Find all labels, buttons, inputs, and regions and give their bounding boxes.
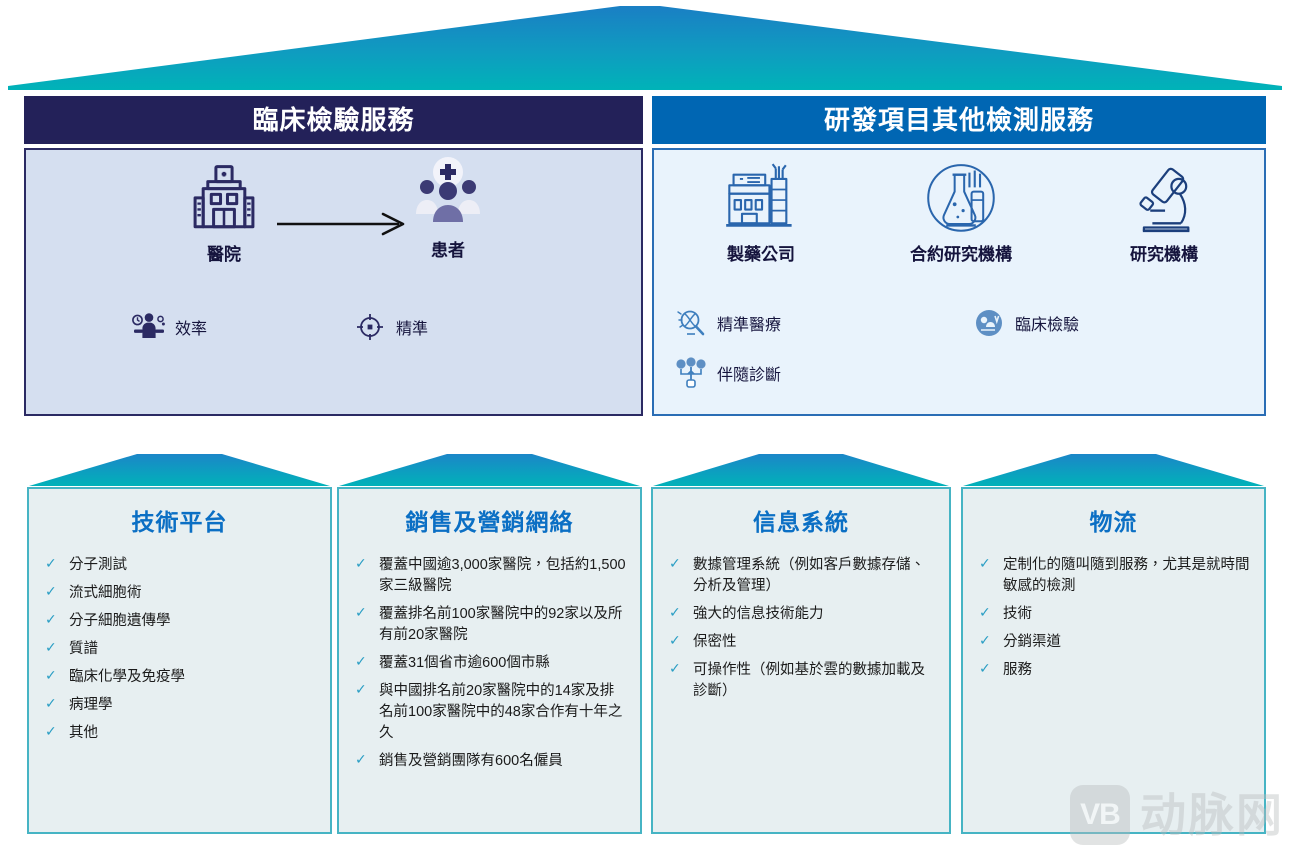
- check-icon: ✓: [355, 752, 369, 766]
- pharma-company-label: 製藥公司: [676, 240, 846, 265]
- precision-medicine-magnifier-icon: [674, 306, 708, 340]
- check-icon: ✓: [45, 668, 59, 682]
- card-title: 物流: [977, 503, 1250, 537]
- check-icon: ✓: [979, 661, 993, 675]
- cro-label: 合約研究機構: [866, 240, 1056, 265]
- card-bullet-list: ✓定制化的隨叫隨到服務，尤其是就時間敏感的檢測 ✓技術 ✓分銷渠道 ✓服務: [977, 555, 1250, 681]
- list-item-text: 分銷渠道: [1003, 634, 1061, 650]
- card-technology-platform: 技術平台 ✓分子測試 ✓流式細胞術 ✓分子細胞遺傳學 ✓質譜 ✓臨床化學及免疫學…: [27, 452, 332, 834]
- check-icon: ✓: [355, 556, 369, 570]
- list-item: ✓臨床化學及免疫學: [43, 667, 316, 688]
- panel-body-clinical: 醫院: [24, 148, 643, 416]
- list-item: ✓分銷渠道: [977, 632, 1250, 653]
- card-sales-marketing-network: 銷售及營銷網絡 ✓覆蓋中國逾3,000家醫院，包括約1,500家三級醫院 ✓覆蓋…: [337, 452, 642, 834]
- feature-precision-label: 精準: [396, 315, 428, 339]
- companion-diagnostics-icon: [674, 356, 708, 390]
- panel-body-rnd: 製藥公司: [652, 148, 1266, 416]
- list-item: ✓覆蓋中國逾3,000家醫院，包括約1,500家三級醫院: [353, 555, 626, 597]
- card-logistics: 物流 ✓定制化的隨叫隨到服務，尤其是就時間敏感的檢測 ✓技術 ✓分銷渠道 ✓服務: [961, 452, 1266, 834]
- pharma-factory-icon: [676, 158, 846, 236]
- check-icon: ✓: [669, 633, 683, 647]
- panel-title-clinical: 臨床檢驗服務: [24, 96, 643, 144]
- list-item-text: 病理學: [69, 697, 113, 713]
- list-item: ✓銷售及營銷團隊有600名僱員: [353, 751, 626, 772]
- list-item: ✓數據管理系統（例如客戶數據存儲、分析及管理）: [667, 555, 935, 597]
- list-item-text: 覆蓋中國逾3,000家醫院，包括約1,500家三級醫院: [379, 557, 626, 594]
- feature-efficiency-label: 效率: [175, 315, 207, 339]
- card-bullet-list: ✓覆蓋中國逾3,000家醫院，包括約1,500家三級醫院 ✓覆蓋排名前100家醫…: [353, 555, 626, 772]
- list-item: ✓保密性: [667, 632, 935, 653]
- check-icon: ✓: [355, 682, 369, 696]
- patients-group-icon: [378, 154, 518, 232]
- big-item-research-institute: 研究機構: [1084, 158, 1244, 265]
- card-chevron-icon: [651, 452, 951, 488]
- research-institute-label: 研究機構: [1084, 240, 1244, 265]
- list-item-text: 保密性: [693, 634, 737, 650]
- card-body: 技術平台 ✓分子測試 ✓流式細胞術 ✓分子細胞遺傳學 ✓質譜 ✓臨床化學及免疫學…: [27, 487, 332, 834]
- microscope-icon: [1084, 158, 1244, 236]
- check-icon: ✓: [45, 556, 59, 570]
- big-item-patients: 患者: [378, 154, 518, 261]
- list-item-text: 流式細胞術: [69, 585, 142, 601]
- list-item-text: 質譜: [69, 641, 98, 657]
- list-item-text: 銷售及營銷團隊有600名僱員: [379, 753, 563, 769]
- check-icon: ✓: [45, 584, 59, 598]
- list-item-text: 覆蓋31個省市逾600個市縣: [379, 655, 550, 671]
- list-item-text: 服務: [1003, 662, 1032, 678]
- list-item-text: 其他: [69, 725, 98, 741]
- list-item: ✓與中國排名前20家醫院中的14家及排名前100家醫院中的48家合作有十年之久: [353, 681, 626, 744]
- patients-label: 患者: [378, 236, 518, 261]
- card-title: 技術平台: [43, 503, 316, 537]
- card-title: 信息系統: [667, 503, 935, 537]
- feature-companion-diagnostics: 伴隨診斷: [674, 356, 781, 390]
- card-chevron-icon: [961, 452, 1266, 488]
- list-item-text: 定制化的隨叫隨到服務，尤其是就時間敏感的檢測: [1003, 557, 1250, 594]
- list-item: ✓流式細胞術: [43, 583, 316, 604]
- check-icon: ✓: [45, 724, 59, 738]
- card-chevron-icon: [337, 452, 642, 488]
- check-icon: ✓: [669, 661, 683, 675]
- lab-flask-icon: [866, 158, 1056, 236]
- check-icon: ✓: [45, 612, 59, 626]
- feature-companion-diagnostics-label: 伴隨診斷: [717, 361, 781, 385]
- card-body: 銷售及營銷網絡 ✓覆蓋中國逾3,000家醫院，包括約1,500家三級醫院 ✓覆蓋…: [337, 487, 642, 834]
- panel-rnd-services: 研發項目其他檢測服務: [652, 96, 1266, 416]
- list-item: ✓技術: [977, 604, 1250, 625]
- list-item-text: 臨床化學及免疫學: [69, 669, 185, 685]
- list-item-text: 分子細胞遺傳學: [69, 613, 171, 629]
- list-item: ✓定制化的隨叫隨到服務，尤其是就時間敏感的檢測: [977, 555, 1250, 597]
- feature-clinical-testing: 臨床檢驗: [972, 306, 1079, 340]
- roof-chevron: [0, 0, 1290, 92]
- hospital-label: 醫院: [154, 240, 294, 265]
- check-icon: ✓: [45, 640, 59, 654]
- list-item: ✓其他: [43, 723, 316, 744]
- list-item-text: 分子測試: [69, 557, 127, 573]
- check-icon: ✓: [355, 654, 369, 668]
- card-bullet-list: ✓分子測試 ✓流式細胞術 ✓分子細胞遺傳學 ✓質譜 ✓臨床化學及免疫學 ✓病理學…: [43, 555, 316, 744]
- feature-precision: 精準: [353, 310, 428, 344]
- feature-precision-medicine-label: 精準醫療: [717, 311, 781, 335]
- list-item: ✓分子測試: [43, 555, 316, 576]
- clinical-testing-icon: [972, 306, 1006, 340]
- card-chevron-icon: [27, 452, 332, 488]
- panel-clinical-services: 臨床檢驗服務: [24, 96, 643, 416]
- card-information-systems: 信息系統 ✓數據管理系統（例如客戶數據存儲、分析及管理） ✓強大的信息技術能力 …: [651, 452, 951, 834]
- list-item: ✓分子細胞遺傳學: [43, 611, 316, 632]
- big-item-cro: 合約研究機構: [866, 158, 1056, 265]
- big-item-pharma-company: 製藥公司: [676, 158, 846, 265]
- check-icon: ✓: [669, 605, 683, 619]
- list-item: ✓質譜: [43, 639, 316, 660]
- list-item-text: 強大的信息技術能力: [693, 606, 824, 622]
- precision-target-icon: [353, 310, 387, 344]
- list-item-text: 可操作性（例如基於雲的數據加載及診斷）: [693, 662, 925, 699]
- list-item: ✓病理學: [43, 695, 316, 716]
- feature-precision-medicine: 精準醫療: [674, 306, 781, 340]
- efficiency-person-clock-icon: [132, 310, 166, 344]
- list-item: ✓強大的信息技術能力: [667, 604, 935, 625]
- check-icon: ✓: [979, 633, 993, 647]
- card-title: 銷售及營銷網絡: [353, 503, 626, 537]
- card-bullet-list: ✓數據管理系統（例如客戶數據存儲、分析及管理） ✓強大的信息技術能力 ✓保密性 …: [667, 555, 935, 702]
- list-item: ✓可操作性（例如基於雲的數據加載及診斷）: [667, 660, 935, 702]
- card-body: 物流 ✓定制化的隨叫隨到服務，尤其是就時間敏感的檢測 ✓技術 ✓分銷渠道 ✓服務: [961, 487, 1266, 834]
- list-item-text: 覆蓋排名前100家醫院中的92家以及所有前20家醫院: [379, 606, 622, 643]
- list-item: ✓覆蓋31個省市逾600個市縣: [353, 653, 626, 674]
- check-icon: ✓: [355, 605, 369, 619]
- check-icon: ✓: [45, 696, 59, 710]
- check-icon: ✓: [979, 556, 993, 570]
- list-item: ✓服務: [977, 660, 1250, 681]
- list-item: ✓覆蓋排名前100家醫院中的92家以及所有前20家醫院: [353, 604, 626, 646]
- panel-title-rnd: 研發項目其他檢測服務: [652, 96, 1266, 144]
- feature-clinical-testing-label: 臨床檢驗: [1015, 311, 1079, 335]
- list-item-text: 技術: [1003, 606, 1032, 622]
- feature-efficiency: 效率: [132, 310, 207, 344]
- check-icon: ✓: [669, 556, 683, 570]
- list-item-text: 數據管理系統（例如客戶數據存儲、分析及管理）: [693, 557, 925, 594]
- card-body: 信息系統 ✓數據管理系統（例如客戶數據存儲、分析及管理） ✓強大的信息技術能力 …: [651, 487, 951, 834]
- check-icon: ✓: [979, 605, 993, 619]
- list-item-text: 與中國排名前20家醫院中的14家及排名前100家醫院中的48家合作有十年之久: [379, 683, 622, 741]
